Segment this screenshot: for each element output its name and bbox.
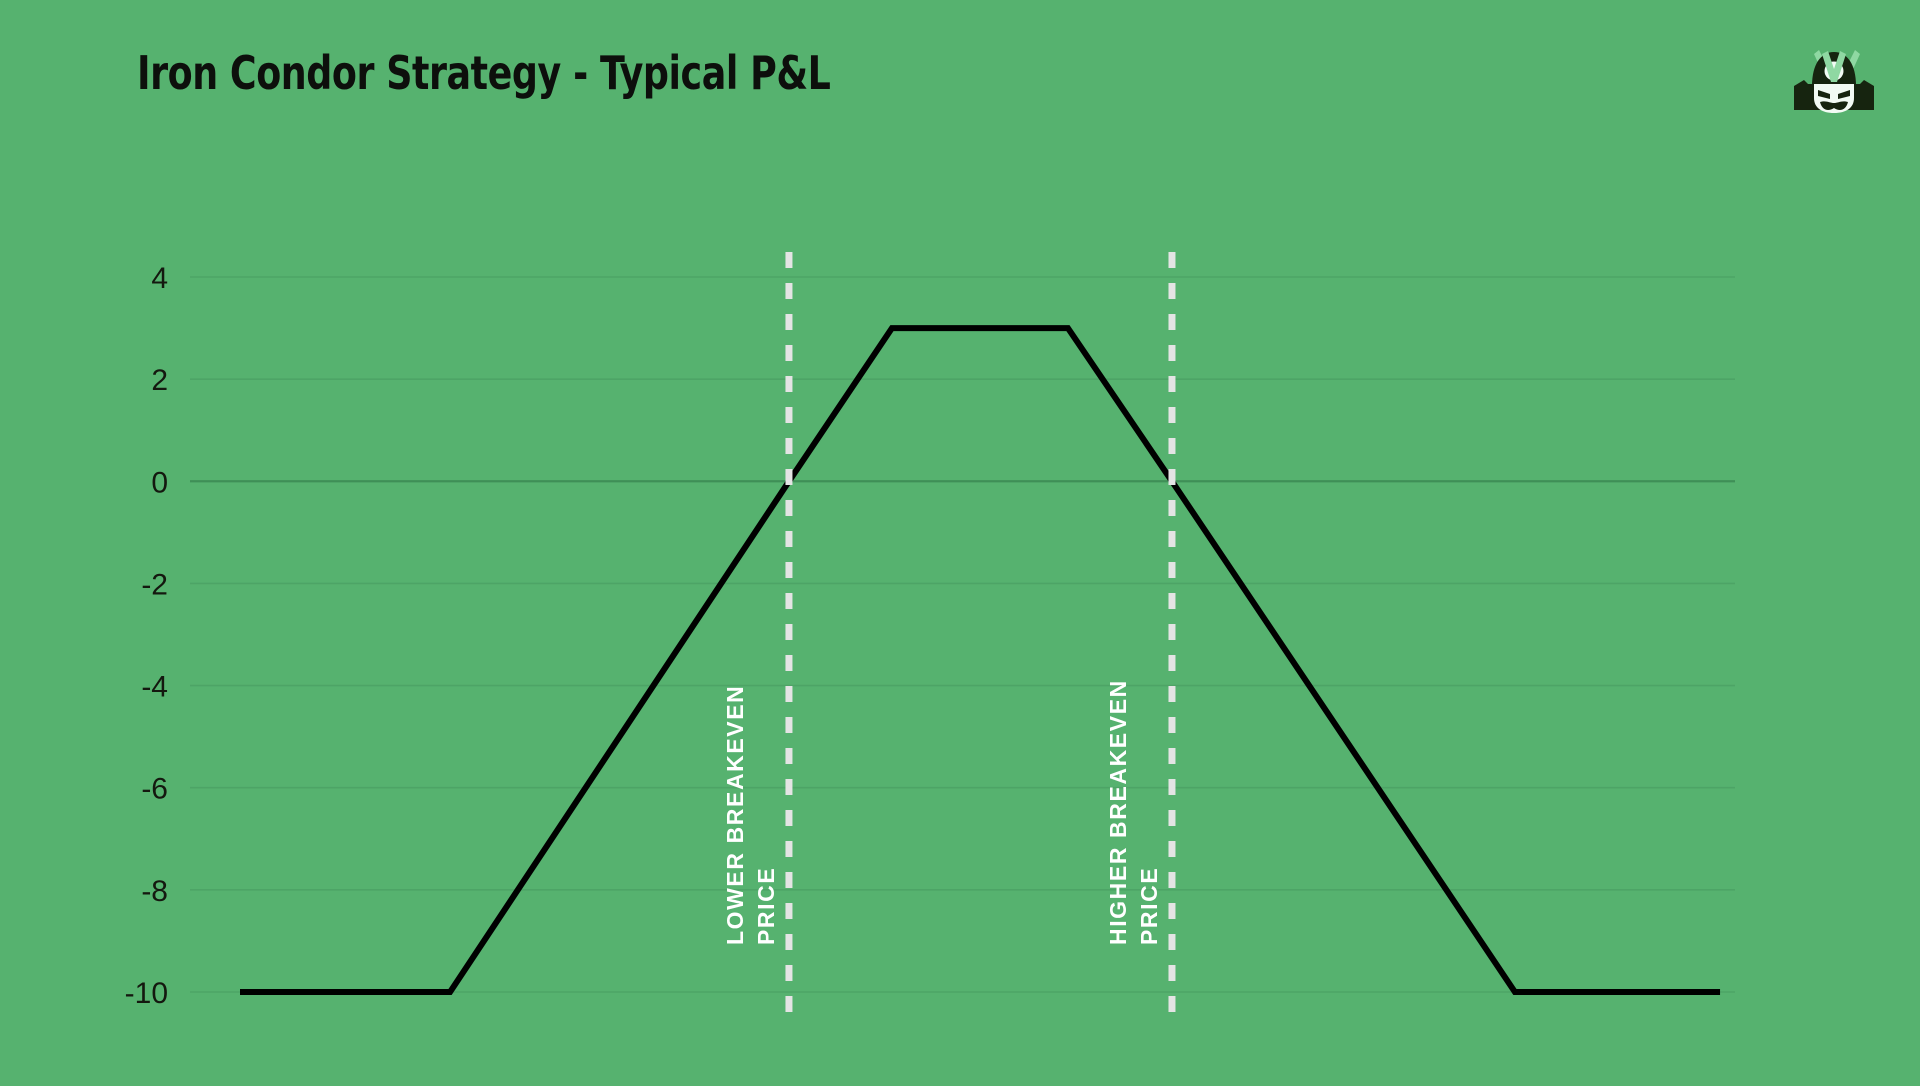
y-axis-tick-label: 4 <box>151 262 168 295</box>
y-axis-tick-label: 2 <box>151 364 168 397</box>
y-axis-tick-labels: 420-2-4-6-8-10 <box>125 262 168 1010</box>
breakeven-annotations-group: LOWER BREAKEVENPRICEHIGHER BREAKEVENPRIC… <box>722 252 1172 1012</box>
y-axis-tick-label: 0 <box>151 466 168 499</box>
lower-breakeven-label: LOWER BREAKEVEN <box>722 685 748 945</box>
payoff-series-group <box>240 328 1720 992</box>
y-axis-tick-label: -6 <box>141 773 168 806</box>
y-axis-tick-label: -10 <box>125 977 168 1010</box>
lower-breakeven-label-second-line: PRICE <box>753 867 779 945</box>
gridlines-group <box>190 277 1735 992</box>
slide-canvas: Iron Condor Strategy - Typical P&L <box>0 0 1920 1086</box>
payoff-chart-svg: 420-2-4-6-8-10 LOWER BREAKEVENPRICEHIGHE… <box>0 0 1920 1086</box>
payoff-line <box>240 328 1720 992</box>
y-axis-tick-label: -4 <box>141 671 168 704</box>
chart-plot-area: 420-2-4-6-8-10 LOWER BREAKEVENPRICEHIGHE… <box>0 0 1920 1086</box>
y-axis-tick-label: -2 <box>141 568 168 601</box>
higher-breakeven-label-second-line: PRICE <box>1136 867 1162 945</box>
y-axis-tick-label: -8 <box>141 875 168 908</box>
higher-breakeven-label: HIGHER BREAKEVEN <box>1105 679 1131 945</box>
